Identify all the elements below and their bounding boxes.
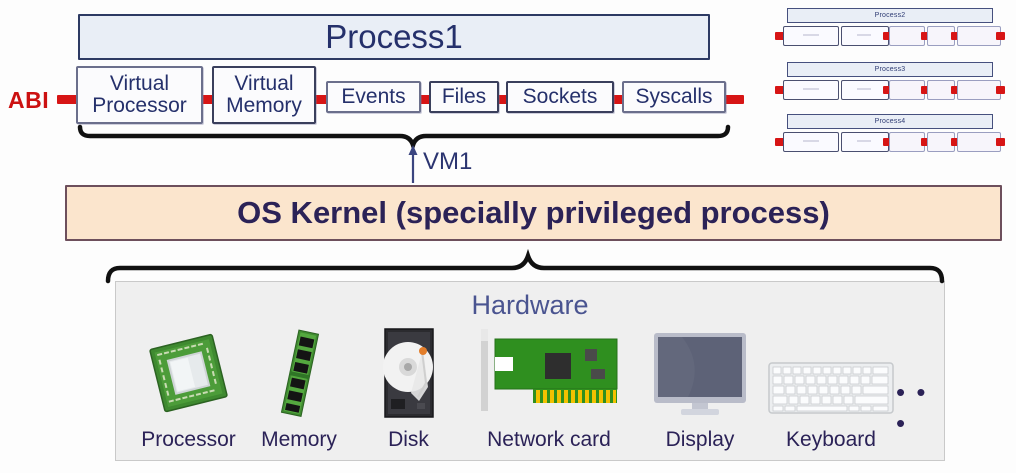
- keyboard-icon: [768, 355, 894, 424]
- abi-unit-events[interactable]: Events: [326, 81, 421, 113]
- mini-process-2-row: [775, 26, 1005, 46]
- mini-unit: [841, 132, 889, 152]
- process1-title-bar: Process1: [78, 14, 710, 60]
- mini-unit: [889, 26, 925, 46]
- abi-unit-virtual-processor-line1: Virtual: [110, 73, 169, 95]
- mini-dash: [803, 88, 819, 90]
- hardware-brace: [108, 256, 942, 281]
- os-kernel-bar: OS Kernel (specially privileged process): [65, 185, 1002, 241]
- mini-unit: [783, 26, 839, 46]
- mini-unit: [957, 80, 1001, 100]
- mini-connector: [996, 138, 1005, 146]
- hardware-label-disk: Disk: [388, 428, 429, 452]
- hardware-item-network-card[interactable]: Network card: [464, 327, 634, 452]
- hardware-label-display: Display: [666, 428, 735, 452]
- vm1-label: VM1: [423, 148, 472, 176]
- mini-dash: [857, 88, 871, 90]
- cpu-chip-icon: [143, 331, 235, 424]
- diagram-canvas: Process1 ABI Virtual Processor Virtual M…: [0, 0, 1016, 473]
- abi-label: ABI: [8, 87, 49, 114]
- mini-unit: [783, 80, 839, 100]
- mini-dash: [857, 34, 871, 36]
- mini-process-4-title: Process4: [787, 114, 993, 129]
- mini-process-2-title: Process2: [787, 8, 993, 23]
- mini-unit: [889, 80, 925, 100]
- hardware-item-display[interactable]: Display: [640, 327, 760, 452]
- abi-unit-files-label: Files: [442, 86, 486, 108]
- mini-connector: [996, 86, 1005, 94]
- abi-brace: [80, 127, 728, 145]
- abi-unit-virtual-memory-line1: Virtual: [234, 73, 293, 95]
- mini-dash: [857, 140, 871, 142]
- hardware-title: Hardware: [116, 290, 944, 321]
- hardware-panel: Hardware: [115, 281, 945, 461]
- mini-process-3[interactable]: Process3: [775, 62, 1005, 106]
- network-card-icon: [473, 327, 625, 424]
- mini-unit: [783, 132, 839, 152]
- hardware-label-keyboard: Keyboard: [786, 428, 876, 452]
- abi-unit-syscalls[interactable]: Syscalls: [622, 81, 726, 113]
- mini-unit: [957, 26, 1001, 46]
- process1-title-text: Process1: [325, 18, 463, 56]
- vm1-arrow-head: [409, 145, 418, 155]
- mini-unit: [957, 132, 1001, 152]
- hardware-item-memory[interactable]: Memory: [244, 327, 354, 452]
- abi-unit-events-label: Events: [341, 86, 405, 108]
- abi-unit-syscalls-label: Syscalls: [635, 86, 712, 108]
- abi-unit-virtual-memory[interactable]: Virtual Memory: [212, 66, 316, 124]
- mini-process-3-title: Process3: [787, 62, 993, 77]
- mini-unit: [841, 80, 889, 100]
- hardware-item-keyboard[interactable]: Keyboard: [761, 327, 901, 452]
- hard-disk-icon: [375, 327, 443, 424]
- mini-dash: [803, 34, 819, 36]
- os-kernel-label: OS Kernel (specially privileged process): [237, 195, 830, 231]
- hardware-label-memory: Memory: [261, 428, 337, 452]
- mini-process-4[interactable]: Process4: [775, 114, 1005, 158]
- mini-process-4-row: [775, 132, 1005, 152]
- abi-unit-files[interactable]: Files: [429, 81, 499, 113]
- hardware-label-processor: Processor: [141, 428, 236, 452]
- hardware-item-processor[interactable]: Processor: [126, 327, 251, 452]
- hardware-item-disk[interactable]: Disk: [356, 327, 461, 452]
- mini-dash: [803, 140, 819, 142]
- mini-process-2[interactable]: Process2: [775, 8, 1005, 52]
- mini-unit: [889, 132, 925, 152]
- monitor-icon: [648, 329, 752, 424]
- abi-unit-sockets-label: Sockets: [523, 86, 598, 108]
- mini-process-3-row: [775, 80, 1005, 100]
- abi-unit-virtual-memory-line2: Memory: [226, 95, 302, 117]
- hardware-more-ellipsis: • • •: [896, 377, 944, 439]
- mini-connector: [996, 32, 1005, 40]
- ram-stick-icon: [264, 327, 334, 424]
- abi-unit-sockets[interactable]: Sockets: [506, 81, 614, 113]
- mini-unit: [841, 26, 889, 46]
- abi-unit-virtual-processor[interactable]: Virtual Processor: [76, 66, 203, 124]
- hardware-label-network-card: Network card: [487, 428, 611, 452]
- abi-unit-virtual-processor-line2: Processor: [92, 95, 187, 117]
